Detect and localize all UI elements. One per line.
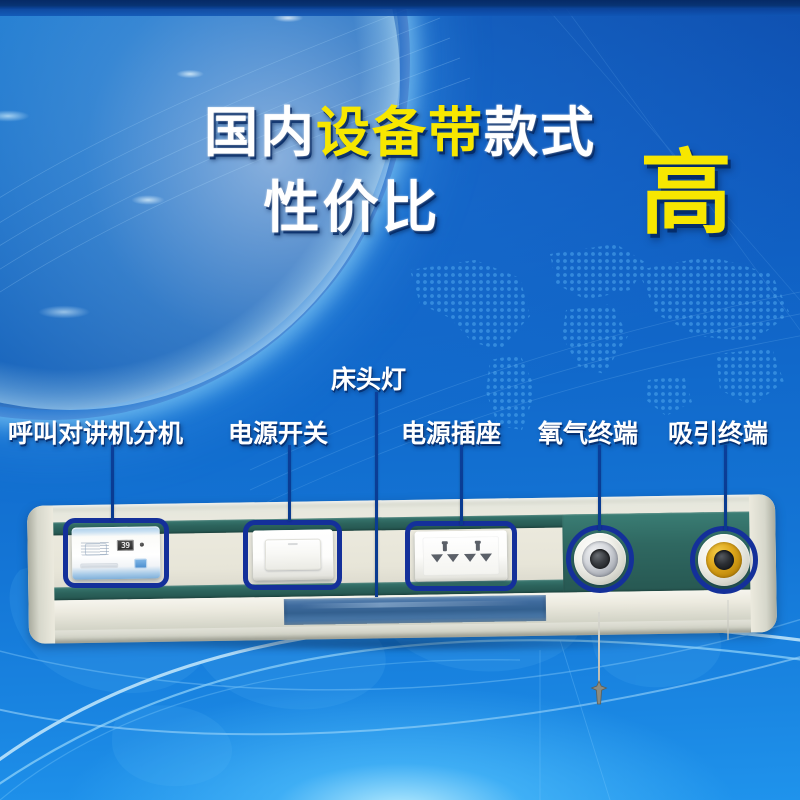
callout-labels-group: 呼叫对讲机分机 电源开关 床头灯 电源插座 氧气终端 吸引终端: [0, 0, 800, 800]
poster-stage: 国内设备带款式 性价比 高 呼叫对讲机分机 电源开关 床头灯 电源插座 氧气终端…: [0, 0, 800, 800]
callout-label-power-socket: 电源插座: [401, 414, 501, 450]
callout-line-power-switch: [288, 445, 291, 521]
callout-line-intercom: [111, 445, 114, 521]
callout-label-oxygen: 氧气终端: [538, 414, 638, 450]
callout-line-oxygen: [598, 445, 601, 531]
callout-line-suction: [724, 445, 727, 531]
callout-line-power-socket: [460, 445, 463, 525]
callout-label-power-switch: 电源开关: [228, 414, 328, 450]
callout-label-intercom: 呼叫对讲机分机: [8, 414, 183, 450]
callout-line-bed-lamp: [375, 392, 378, 597]
callout-label-suction: 吸引终端: [668, 414, 768, 450]
callout-label-bed-lamp: 床头灯: [331, 360, 406, 396]
